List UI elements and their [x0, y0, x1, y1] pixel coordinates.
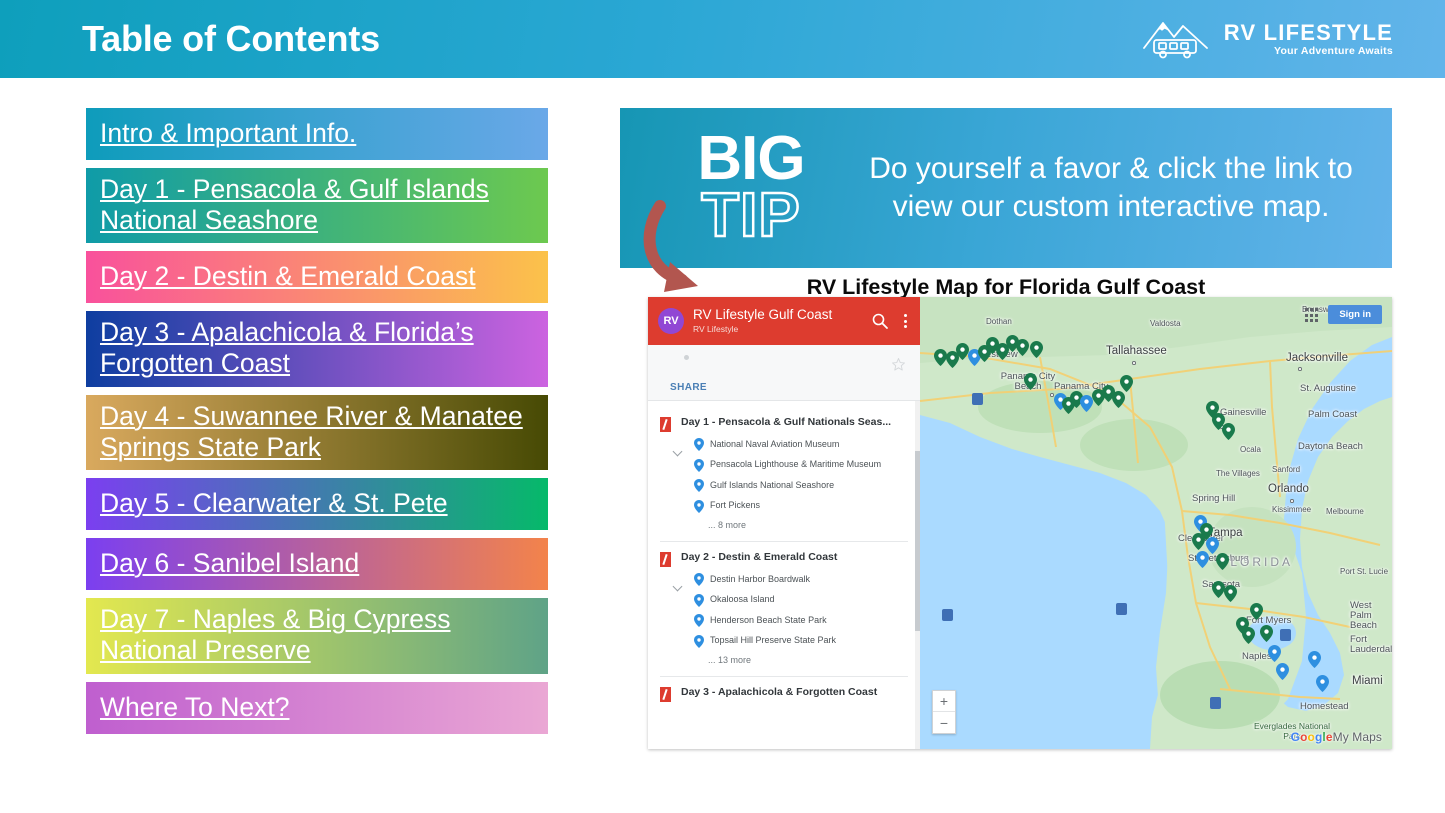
place-label: Pensacola Lighthouse & Maritime Museum [710, 459, 881, 470]
place-label: Fort Pickens [710, 500, 760, 511]
zoom-in-button[interactable]: + [933, 691, 955, 712]
map-layers-list: Day 1 - Pensacola & Gulf Nationals Seas.… [648, 401, 920, 749]
google-my-maps-embed: RV RV Lifestyle Gulf Coast RV Lifestyle … [648, 297, 1392, 749]
map-pin-icon[interactable] [1250, 603, 1263, 620]
map-pin-icon[interactable] [1120, 375, 1133, 392]
star-outline-icon[interactable] [891, 357, 906, 372]
show-more-link[interactable]: ... 13 more [708, 655, 910, 665]
big-word: BIG [697, 130, 804, 187]
toc-item-day-3[interactable]: Day 3 - Apalachicola & Florida’s Forgott… [86, 311, 548, 386]
tip-message: Do yourself a favor & click the link to … [852, 150, 1392, 227]
city-dot [1298, 367, 1302, 371]
toc-item-where-to-next[interactable]: Where To Next? [86, 682, 548, 734]
toc-link-label[interactable]: Day 7 - Naples & Big Cypress National Pr… [100, 604, 534, 665]
sign-in-button[interactable]: Sign in [1328, 305, 1382, 324]
watermark-mymaps: My Maps [1333, 730, 1382, 744]
map-pin-icon [694, 479, 704, 492]
toc-link-label[interactable]: Where To Next? [100, 692, 290, 723]
list-item[interactable]: Topsail Hill Preserve State Park [694, 635, 910, 648]
map-pin-icon[interactable] [1260, 625, 1273, 642]
google-my-maps-watermark: GoogleMy Maps [1291, 730, 1382, 744]
list-item[interactable]: Henderson Beach State Park [694, 614, 910, 627]
city-dot [1050, 393, 1054, 397]
toc-link-label[interactable]: Day 6 - Sanibel Island [100, 548, 359, 579]
layer-title: Day 2 - Destin & Emerald Coast [681, 551, 837, 565]
map-pin-icon[interactable] [1242, 627, 1255, 644]
map-pin-icon[interactable] [1308, 651, 1321, 668]
map-pin-icon [694, 573, 704, 586]
layer-title: Day 1 - Pensacola & Gulf Nationals Seas.… [681, 416, 891, 430]
city-dot [1132, 361, 1136, 365]
toc-item-intro[interactable]: Intro & Important Info. [86, 108, 548, 160]
rv-mountain-icon [1140, 16, 1212, 62]
place-label: Gulf Islands National Seashore [710, 480, 834, 491]
layer-header[interactable]: Day 3 - Apalachicola & Forgotten Coast [658, 686, 910, 702]
place-label: Okaloosa Island [710, 594, 775, 605]
map-pin-icon[interactable] [1030, 341, 1043, 358]
map-pin-icon [694, 500, 704, 513]
layer-places: Destin Harbor Boardwalk Okaloosa Island … [694, 573, 910, 665]
map-title: RV Lifestyle Gulf Coast [693, 307, 862, 323]
map-pin-icon[interactable] [1216, 553, 1229, 570]
layer-header[interactable]: Day 1 - Pensacola & Gulf Nationals Seas.… [658, 416, 910, 432]
page-title: Table of Contents [82, 18, 380, 60]
map-pin-icon [694, 438, 704, 451]
list-item[interactable]: Okaloosa Island [694, 594, 910, 607]
list-item[interactable]: Pensacola Lighthouse & Maritime Museum [694, 459, 910, 472]
map-canvas[interactable]: Crestview Tallahassee Panama City Beach … [920, 297, 1392, 749]
map-pin-icon[interactable] [1112, 391, 1125, 408]
placeholder-dot [684, 355, 689, 360]
show-more-link[interactable]: ... 8 more [708, 520, 910, 530]
google-apps-grid-icon[interactable] [1305, 308, 1320, 323]
toc-link-label[interactable]: Day 2 - Destin & Emerald Coast [100, 261, 476, 292]
list-item[interactable]: Fort Pickens [694, 500, 910, 513]
place-label: National Naval Aviation Museum [710, 439, 839, 450]
map-pin-icon[interactable] [1276, 663, 1289, 680]
place-label: Topsail Hill Preserve State Park [710, 635, 836, 646]
list-item[interactable]: Gulf Islands National Seashore [694, 479, 910, 492]
toc-item-day-4[interactable]: Day 4 - Suwannee River & Manatee Springs… [86, 395, 548, 470]
collapse-chevron-icon[interactable] [673, 582, 683, 592]
map-pin-icon[interactable] [1016, 339, 1029, 356]
toc-link-label[interactable]: Day 3 - Apalachicola & Florida’s Forgott… [100, 317, 534, 378]
toc-link-label[interactable]: Day 4 - Suwannee River & Manatee Springs… [100, 401, 534, 462]
map-panel-titles: RV Lifestyle Gulf Coast RV Lifestyle [693, 307, 862, 335]
map-pin-icon [694, 635, 704, 648]
search-icon[interactable] [871, 312, 889, 330]
map-pin-icon[interactable] [1268, 645, 1281, 662]
layer-header[interactable]: Day 2 - Destin & Emerald Coast [658, 551, 910, 567]
share-button[interactable]: SHARE [670, 382, 707, 393]
map-legend-panel: RV RV Lifestyle Gulf Coast RV Lifestyle … [648, 297, 920, 749]
page-header: Table of Contents RV LIFESTYLE Your Adve… [0, 0, 1445, 78]
map-pin-icon[interactable] [1196, 551, 1209, 568]
toc-link-label[interactable]: Day 1 - Pensacola & Gulf Islands Nationa… [100, 174, 534, 235]
map-pin-icon [694, 459, 704, 472]
table-of-contents-list: Intro & Important Info. Day 1 - Pensacol… [86, 108, 548, 742]
toc-link-label[interactable]: Day 5 - Clearwater & St. Pete [100, 488, 448, 519]
brand-logo: RV LIFESTYLE Your Adventure Awaits [1140, 16, 1393, 62]
toc-item-day-2[interactable]: Day 2 - Destin & Emerald Coast [86, 251, 548, 303]
map-pin-icon[interactable] [1222, 423, 1235, 440]
brand-name: RV LIFESTYLE [1224, 21, 1393, 44]
map-layer-day-3[interactable]: Day 3 - Apalachicola & Forgotten Coast [648, 677, 920, 704]
collapse-chevron-icon[interactable] [673, 447, 683, 457]
map-layer-day-2[interactable]: Day 2 - Destin & Emerald Coast Destin Ha… [648, 542, 920, 667]
map-pin-icon[interactable] [1024, 373, 1037, 390]
toc-item-day-5[interactable]: Day 5 - Clearwater & St. Pete [86, 478, 548, 530]
list-item[interactable]: Destin Harbor Boardwalk [694, 573, 910, 586]
layer-places: National Naval Aviation Museum Pensacola… [694, 438, 910, 530]
toc-item-day-6[interactable]: Day 6 - Sanibel Island [86, 538, 548, 590]
map-zoom-controls[interactable]: + − [932, 690, 956, 734]
toc-item-day-1[interactable]: Day 1 - Pensacola & Gulf Islands Nationa… [86, 168, 548, 243]
map-author: RV Lifestyle [693, 324, 862, 335]
city-dot [1290, 499, 1294, 503]
brand-tagline: Your Adventure Awaits [1274, 45, 1393, 57]
kebab-menu-icon[interactable] [898, 314, 912, 328]
layer-title: Day 3 - Apalachicola & Forgotten Coast [681, 686, 877, 700]
toc-link-label[interactable]: Intro & Important Info. [100, 118, 356, 149]
avatar: RV [658, 308, 684, 334]
map-pin-icon[interactable] [1224, 585, 1237, 602]
toc-item-day-7[interactable]: Day 7 - Naples & Big Cypress National Pr… [86, 598, 548, 673]
layer-marker-icon [660, 687, 671, 702]
layer-marker-icon [660, 417, 671, 432]
big-tip-banner: BIG TIP Do yourself a favor & click the … [620, 108, 1392, 268]
layer-marker-icon [660, 552, 671, 567]
map-pin-icon [694, 594, 704, 607]
map-pin-icon[interactable] [1316, 675, 1329, 692]
map-pin-icon [694, 614, 704, 627]
place-label: Destin Harbor Boardwalk [710, 574, 810, 585]
right-column: BIG TIP Do yourself a favor & click the … [620, 108, 1392, 300]
map-pin-icon[interactable] [1192, 533, 1205, 550]
map-share-row: SHARE [648, 345, 920, 401]
zoom-out-button[interactable]: − [933, 712, 955, 733]
map-panel-header: RV RV Lifestyle Gulf Coast RV Lifestyle [648, 297, 920, 345]
list-item[interactable]: National Naval Aviation Museum [694, 438, 910, 451]
place-label: Henderson Beach State Park [710, 615, 827, 626]
map-layer-day-1[interactable]: Day 1 - Pensacola & Gulf Nationals Seas.… [648, 407, 920, 532]
curved-arrow-icon [642, 200, 732, 295]
